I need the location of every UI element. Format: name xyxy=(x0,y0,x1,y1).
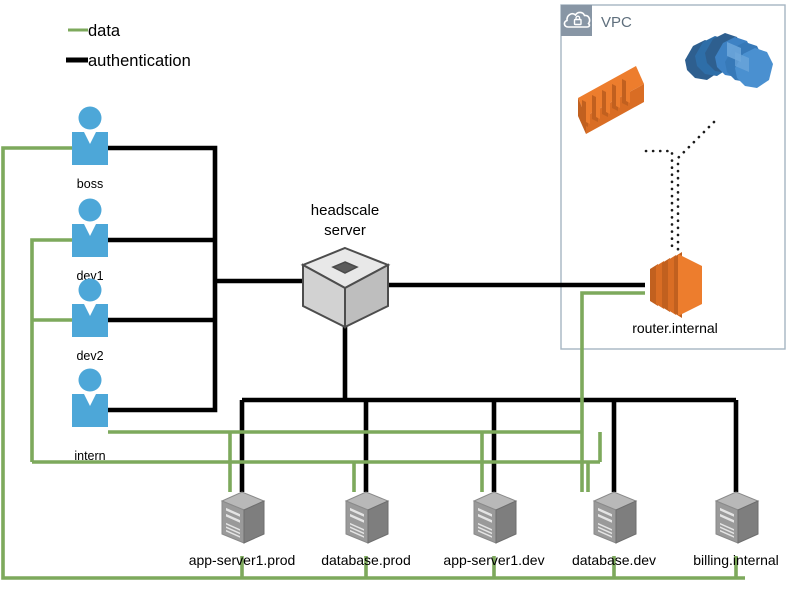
network-diagram: data authentication VPC xyxy=(0,0,792,593)
legend-auth-label: authentication xyxy=(88,52,191,70)
user-dev2-label: dev2 xyxy=(76,349,103,363)
headscale-server-label-line2: server xyxy=(324,222,366,239)
headscale-server-node[interactable]: headscale server xyxy=(303,202,388,327)
diagram-canvas: data authentication VPC xyxy=(0,0,792,593)
legend-data-label: data xyxy=(88,22,121,40)
server-database-dev[interactable]: database.dev xyxy=(572,492,656,568)
user-intern[interactable]: intern xyxy=(72,369,108,464)
server-app-server1-prod-label: app-server1.prod xyxy=(189,552,296,568)
router-internal-label: router.internal xyxy=(632,320,718,336)
server-database-dev-label: database.dev xyxy=(572,552,656,568)
aws-service-blue-icon xyxy=(685,33,773,88)
headscale-server-label-line1: headscale xyxy=(311,202,379,219)
user-intern-label: intern xyxy=(74,449,105,463)
user-icon xyxy=(72,107,108,166)
user-boss[interactable]: boss xyxy=(72,107,108,192)
server-app-server1-dev[interactable]: app-server1.dev xyxy=(443,492,544,568)
server-icon xyxy=(474,492,516,543)
router-internal-node[interactable]: router.internal xyxy=(632,252,718,336)
cube-icon xyxy=(303,248,388,327)
server-icon xyxy=(346,492,388,543)
server-database-prod-label: database.prod xyxy=(321,552,411,568)
auth-link-intern xyxy=(108,281,215,410)
server-icon xyxy=(716,492,758,543)
server-app-server1-dev-label: app-server1.dev xyxy=(443,552,544,568)
vpc-dotted-links xyxy=(646,122,714,252)
server-icon xyxy=(594,492,636,543)
legend: data authentication xyxy=(66,22,191,70)
user-icon xyxy=(72,199,108,258)
user-icon xyxy=(72,369,108,428)
server-billing-internal[interactable]: billing.internal xyxy=(693,492,779,568)
server-billing-internal-label: billing.internal xyxy=(693,552,779,568)
user-icon xyxy=(72,279,108,338)
server-icon xyxy=(222,492,264,543)
user-dev1[interactable]: dev1 xyxy=(72,199,108,284)
data-link-dev1 xyxy=(32,240,74,462)
server-database-prod[interactable]: database.prod xyxy=(321,492,411,568)
vpc-label: VPC xyxy=(601,14,632,31)
auth-link-boss xyxy=(108,148,215,281)
user-boss-label: boss xyxy=(77,177,103,191)
server-app-server1-prod[interactable]: app-server1.prod xyxy=(189,492,296,568)
aws-ec2-icon xyxy=(650,252,702,318)
user-dev2[interactable]: dev2 xyxy=(72,279,108,364)
aws-service-orange-icon xyxy=(578,66,644,134)
